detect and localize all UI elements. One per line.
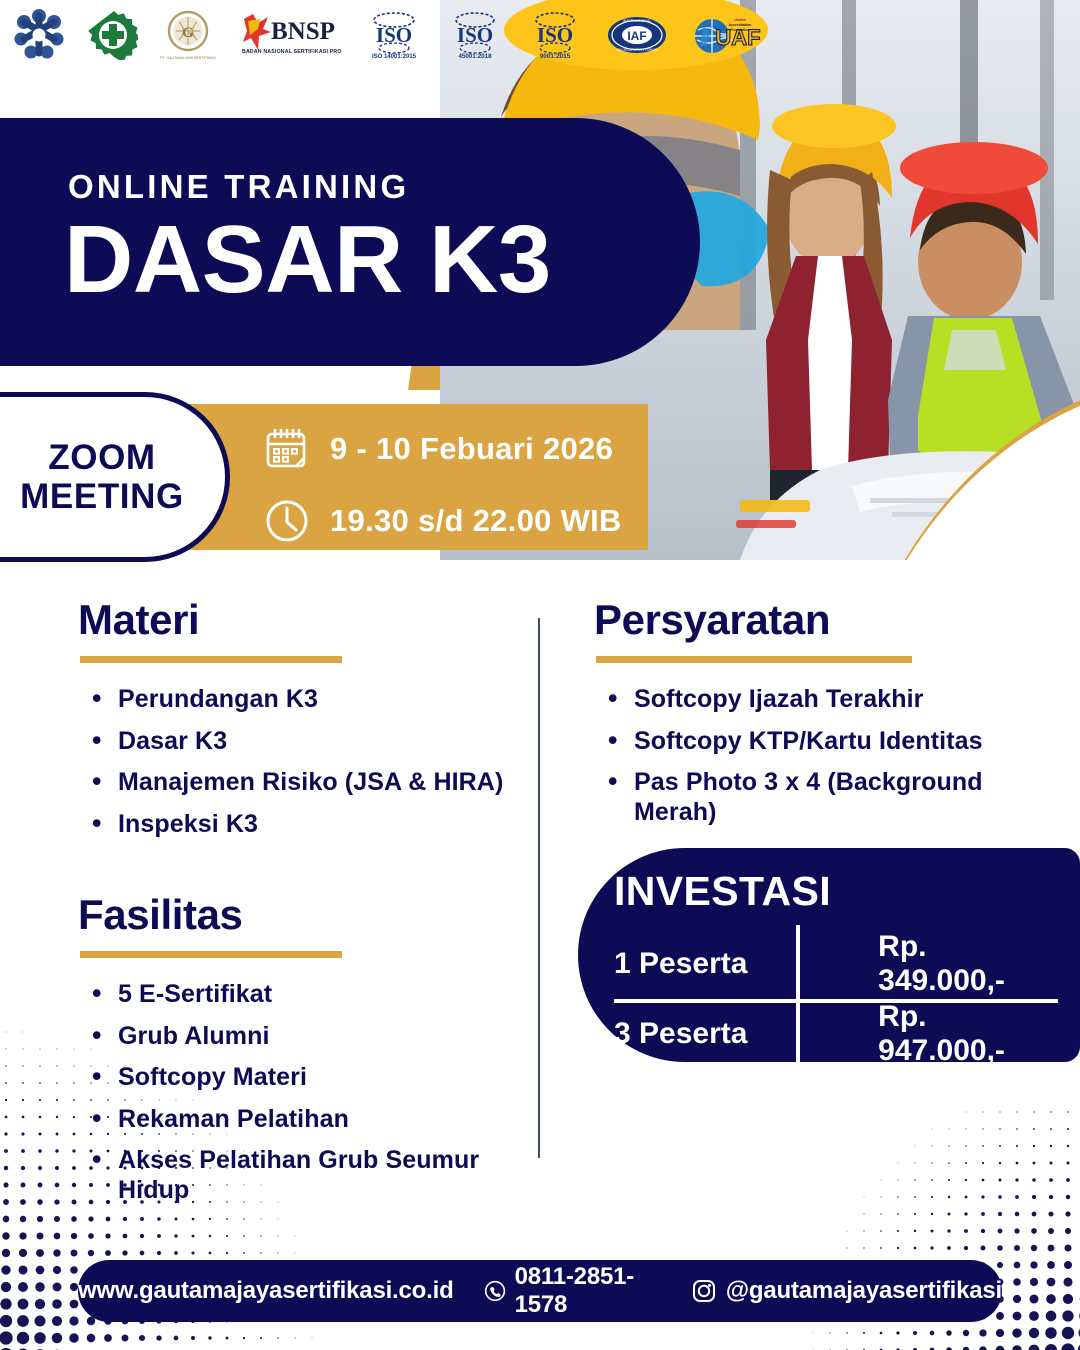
persyaratan-title: Persyaratan: [594, 596, 1034, 644]
list-item: Rekaman Pelatihan: [78, 1105, 518, 1135]
svg-text:ISO 14001:2015: ISO 14001:2015: [372, 54, 417, 60]
zoom-label-line2: MEETING: [0, 477, 184, 516]
pricing-horizontal-rule: [614, 999, 1058, 1003]
materi-title: Materi: [78, 596, 518, 644]
schedule-details: 9 - 10 Febuari 2026 19.30 s/d 22.00 WIB: [262, 418, 622, 552]
persyaratan-section: Persyaratan Softcopy Ijazah Terakhir Sof…: [594, 596, 1034, 827]
kemnaker-logo: [12, 9, 66, 61]
svg-text:Accreditation: Accreditation: [729, 23, 752, 27]
list-item: Inspeksi K3: [78, 810, 518, 840]
materi-section: Materi Perundangan K3 Dasar K3 Manajemen…: [78, 596, 518, 839]
svg-text:IAF: IAF: [627, 29, 646, 43]
gautama-jaya-logo: G PT. GAUTAMA JAYA SERTIFIKASI: [160, 7, 216, 63]
svg-text:G: G: [182, 25, 194, 41]
instagram-text: @gautamajayasertifikasi: [726, 1277, 1002, 1305]
phone-icon: [484, 1278, 506, 1304]
bnsp-logo: BNSP BADAN NASIONAL SERTIFIKASI PROFESI: [238, 9, 342, 61]
uaf-logo: UAF United Accreditation Foundation: [690, 10, 764, 60]
svg-text:PT. GAUTAMA JAYA SERTIFIKASI: PT. GAUTAMA JAYA SERTIFIKASI: [160, 56, 216, 60]
phone-text: 0811-2851-1578: [515, 1263, 661, 1319]
list-item: Manajemen Risiko (JSA & HIRA): [78, 768, 518, 798]
pricing-vertical-rule: [796, 925, 800, 1069]
fasilitas-underline: [80, 951, 342, 958]
accreditation-logo-bar: G PT. GAUTAMA JAYA SERTIFIKASI BNSP BADA…: [0, 0, 1080, 70]
investasi-card: INVESTASI 1 Peserta Rp. 349.000,- 3 Pese…: [578, 848, 1080, 1062]
list-item: Softcopy Ijazah Terakhir: [594, 685, 1034, 715]
list-item: Dasar K3: [78, 727, 518, 757]
svg-text:United: United: [734, 18, 745, 22]
pricing-table: 1 Peserta Rp. 349.000,- 3 Peserta Rp. 94…: [614, 929, 1058, 1069]
svg-text:ISO: ISO: [376, 23, 412, 47]
schedule-date: 9 - 10 Febuari 2026: [330, 431, 613, 467]
iso-9001-logo: ISO 9001:2015: [526, 9, 584, 61]
investasi-title: INVESTASI: [614, 868, 1080, 915]
page-title: DASAR K3: [64, 210, 551, 311]
svg-text:BNSP: BNSP: [271, 18, 335, 45]
left-column: Materi Perundangan K3 Dasar K3 Manajemen…: [78, 596, 518, 1217]
svg-text:45001:2018: 45001:2018: [458, 53, 492, 60]
fasilitas-list: 5 E-Sertifikat Grub Alumni Softcopy Mate…: [78, 980, 518, 1205]
svg-text:ACCREDITATION FORUM: ACCREDITATION FORUM: [617, 48, 658, 52]
materi-underline: [80, 656, 342, 663]
list-item: Grub Alumni: [78, 1022, 518, 1052]
zoom-label-line1: ZOOM: [14, 438, 155, 477]
pricing-label: 1 Peserta: [614, 947, 806, 981]
iso-45001-logo: ISO 45001:2018: [446, 9, 504, 61]
list-item: Softcopy KTP/Kartu Identitas: [594, 727, 1034, 757]
table-row: 1 Peserta Rp. 349.000,-: [614, 929, 1058, 999]
website-item[interactable]: www.gautamajayasertifikasi.co.id: [78, 1277, 454, 1305]
kicker-text: ONLINE TRAINING: [68, 168, 409, 206]
svg-text:BADAN NASIONAL SERTIFIKASI PRO: BADAN NASIONAL SERTIFIKASI PROFESI: [242, 49, 342, 55]
materi-list: Perundangan K3 Dasar K3 Manajemen Risiko…: [78, 685, 518, 839]
schedule-time: 19.30 s/d 22.00 WIB: [330, 503, 622, 539]
svg-text:ISO: ISO: [537, 23, 573, 47]
persyaratan-list: Softcopy Ijazah Terakhir Softcopy KTP/Ka…: [594, 685, 1034, 827]
svg-text:9001:2015: 9001:2015: [540, 53, 571, 60]
footer-contact-bar: www.gautamajayasertifikasi.co.id 0811-28…: [78, 1260, 1002, 1322]
iaf-logo: IAF INTERNATIONAL ACCREDITATION FORUM: [606, 13, 668, 57]
instagram-item[interactable]: @gautamajayasertifikasi: [691, 1277, 1002, 1305]
website-text: www.gautamajayasertifikasi.co.id: [78, 1277, 454, 1305]
fasilitas-section: Fasilitas 5 E-Sertifikat Grub Alumni Sof…: [78, 891, 518, 1205]
list-item: Softcopy Materi: [78, 1063, 518, 1093]
persyaratan-underline: [596, 656, 912, 663]
svg-text:INTERNATIONAL: INTERNATIONAL: [623, 19, 652, 23]
fasilitas-title: Fasilitas: [78, 891, 518, 939]
poster-root: G PT. GAUTAMA JAYA SERTIFIKASI BNSP BADA…: [0, 0, 1080, 1350]
pricing-value: Rp. 947.000,-: [806, 1000, 1058, 1068]
zoom-meeting-badge: ZOOM MEETING: [0, 392, 230, 562]
pricing-value: Rp. 349.000,-: [806, 930, 1058, 998]
calendar-icon: [262, 424, 312, 474]
iso-14001-logo: ISO ISO 14001:2015: [364, 9, 424, 61]
svg-text:ISO: ISO: [457, 23, 493, 47]
title-panel: ONLINE TRAINING DASAR K3: [0, 118, 700, 366]
column-divider: [538, 618, 540, 1158]
table-row: 3 Peserta Rp. 947.000,-: [614, 999, 1058, 1069]
k3-gear-logo: [88, 10, 138, 60]
list-item: Perundangan K3: [78, 685, 518, 715]
instagram-icon: [691, 1278, 717, 1304]
clock-icon: [262, 496, 312, 546]
list-item: 5 E-Sertifikat: [78, 980, 518, 1010]
schedule-time-row: 19.30 s/d 22.00 WIB: [262, 490, 622, 552]
phone-item[interactable]: 0811-2851-1578: [484, 1263, 661, 1319]
list-item: Akses Pelatihan Grub Seumur Hidup: [78, 1146, 518, 1205]
pricing-label: 3 Peserta: [614, 1017, 806, 1051]
svg-text:Foundation: Foundation: [730, 28, 750, 32]
schedule-date-row: 9 - 10 Febuari 2026: [262, 418, 622, 480]
right-column: Persyaratan Softcopy Ijazah Terakhir Sof…: [594, 596, 1034, 839]
list-item: Pas Photo 3 x 4 (Background Merah): [594, 768, 1034, 827]
